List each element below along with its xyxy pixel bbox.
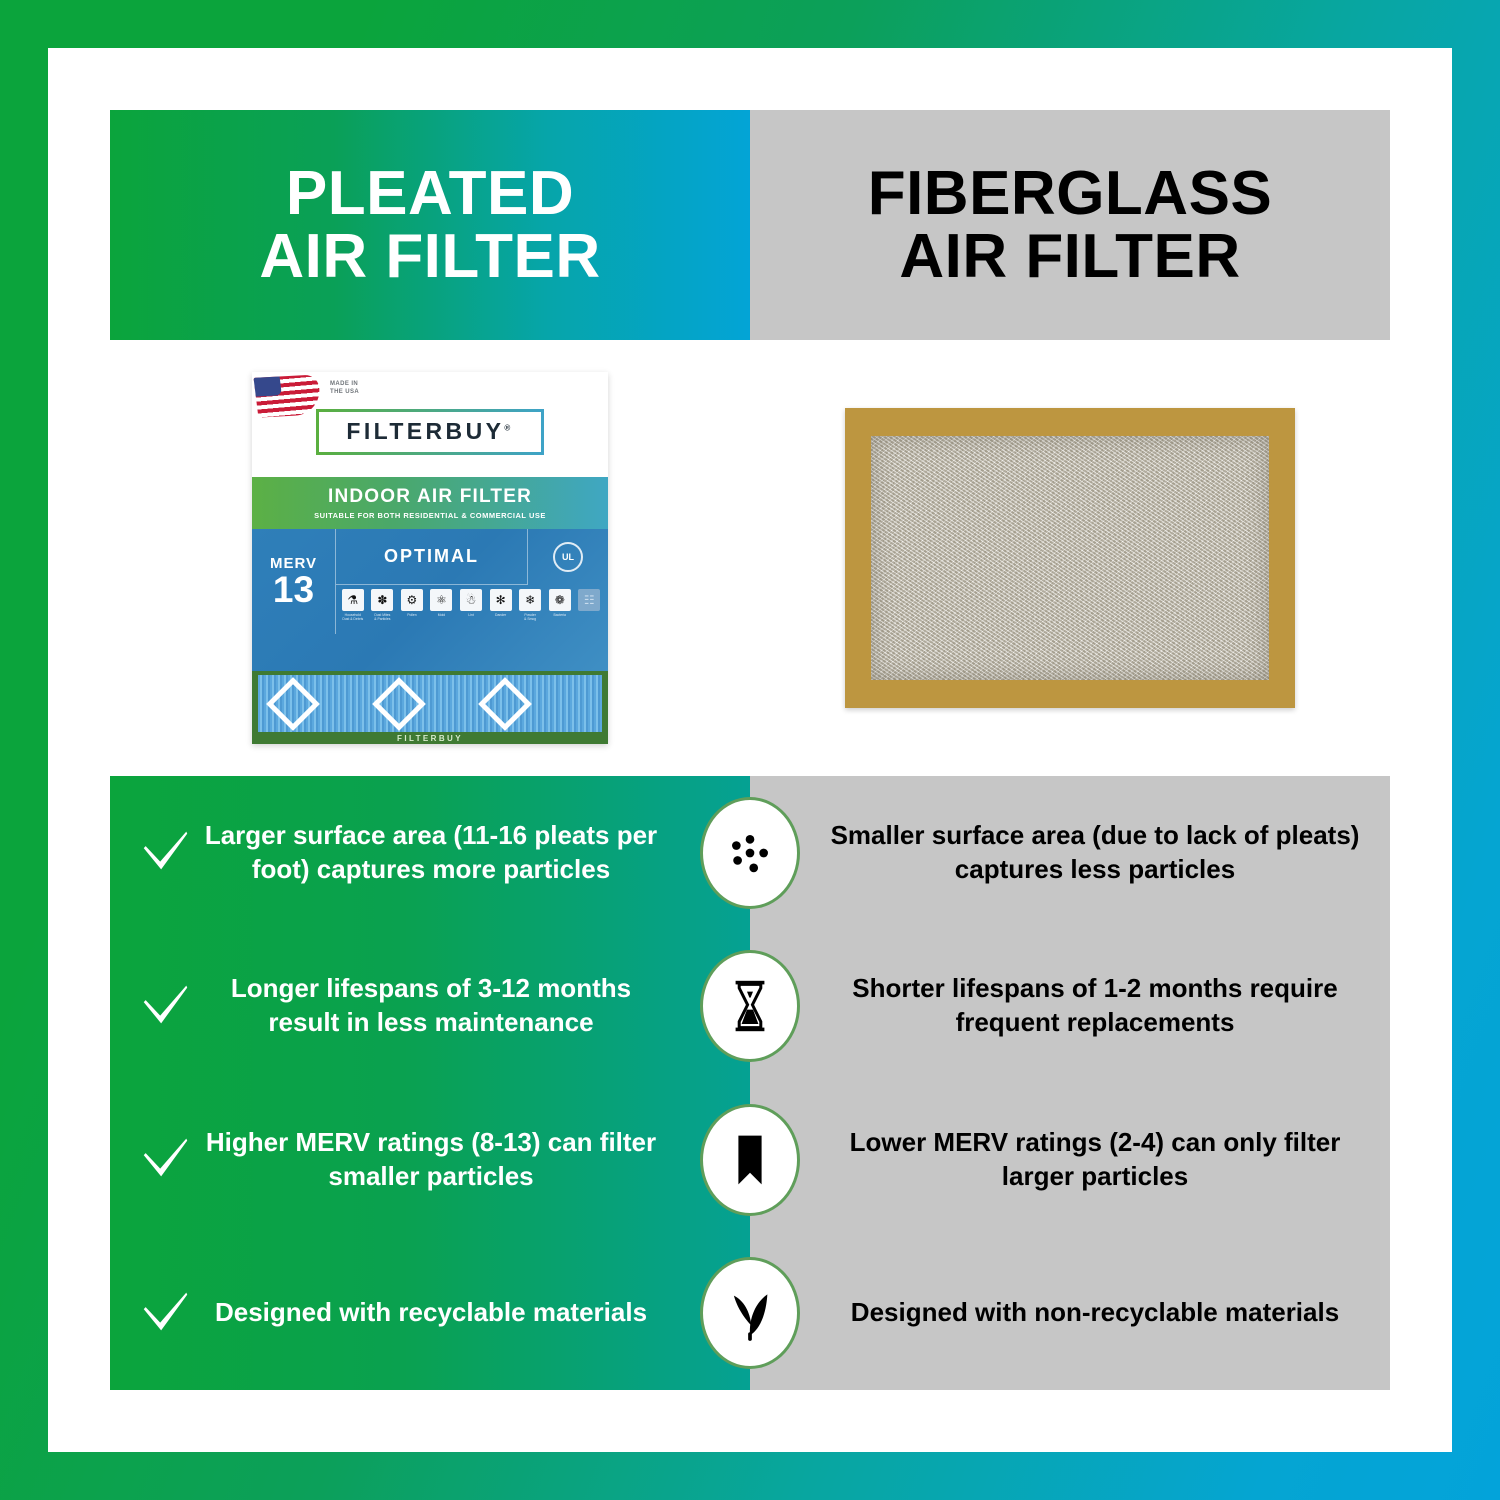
header-pleated: PLEATED AIR FILTER [110,110,750,340]
comparison-row: Larger surface area (11-16 pleats per fo… [110,776,1390,930]
usa-flag-icon [254,374,323,417]
filterbuy-frame-text: FILTERBUY [252,734,608,743]
capture-icon-bacteria: ❁ Bacteria [547,589,573,617]
pleated-benefit-cell: Higher MERV ratings (8-13) can filter sm… [110,1083,750,1237]
hourglass-icon [700,950,800,1062]
capture-icon-label: Mold [438,613,445,617]
wire-diamond [478,677,532,731]
particles-icon [700,797,800,909]
powder-smog-icon: ❄ [519,589,541,611]
fiberglass-filter-image [845,408,1295,708]
filterbuy-logo-text: FILTERBUY® [346,418,513,445]
check-icon [136,975,194,1038]
fiberglass-drawback-cell: Shorter lifespans of 1-2 months require … [750,930,1390,1084]
capture-icon-dander: ✻ Dander [488,589,514,617]
fiberglass-drawback-text: Designed with non-recyclable materials [851,1296,1339,1330]
capture-icon-lint: ☃ Lint [458,589,484,617]
fiberglass-drawback-text: Lower MERV ratings (2-4) can only filter… [830,1126,1360,1194]
fiberglass-drawback-cell: Smaller surface area (due to lack of ple… [750,776,1390,930]
pleated-benefit-text: Larger surface area (11-16 pleats per fo… [198,819,710,887]
ul-certification-icon: UL [553,542,583,572]
fiberglass-product-cell [750,340,1390,776]
capture-icon-dust: ⚗ Household Dust & Debris [340,589,366,622]
pleated-filter-box-image: MADE IN THE USA FILTERBUY® INDOOR AIR FI… [252,372,608,744]
dust-icon: ⚗ [342,589,364,611]
pleated-benefit-text: Designed with recyclable materials [198,1296,710,1330]
capture-icon-label: Household Dust & Debris [342,613,363,622]
pleated-media-preview: FILTERBUY [252,671,608,744]
capture-icon-label: Bacteria [553,613,565,617]
capture-icon-mold: ⚛ Mold [429,589,455,617]
bookmark-icon [700,1104,800,1216]
wire-diamond [266,677,320,731]
pleated-benefit-cell: Longer lifespans of 3-12 months result i… [110,930,750,1084]
capture-icons-strip: ⚗ Household Dust & Debris ✽ Dust Mites &… [340,589,602,637]
pleat-grid [258,675,602,732]
pleated-product-cell: MADE IN THE USA FILTERBUY® INDOOR AIR FI… [110,340,750,776]
capture-icon-disabled: ☷ [577,589,603,613]
capture-icon-label: Pollen [407,613,416,617]
fiberglass-drawback-cell: Lower MERV ratings (2-4) can only filter… [750,1083,1390,1237]
fiberglass-drawback-text: Shorter lifespans of 1-2 months require … [830,972,1360,1040]
capture-icon-dust-mites: ✽ Dust Mites & Particles [370,589,396,622]
comparison-row: Higher MERV ratings (8-13) can filter sm… [110,1083,1390,1237]
capture-icon-label: Powder & Smog [524,613,536,622]
header-fiberglass: FIBERGLASS AIR FILTER [750,110,1390,340]
bacteria-icon: ❁ [549,589,571,611]
box-band-title: INDOOR AIR FILTER [328,486,532,508]
box-top-section: MADE IN THE USA FILTERBUY® [252,372,608,477]
header-pleated-title: PLEATED AIR FILTER [259,162,600,288]
fiberglass-media [871,436,1269,680]
ul-cert-cell: UL [528,529,608,585]
box-blue-section: MERV 13 OPTIMAL UL ⚗ Household Dust & De… [252,529,608,671]
fiberglass-drawback-cell: Designed with non-recyclable materials [750,1237,1390,1391]
check-icon [136,821,194,884]
pleated-benefit-text: Longer lifespans of 3-12 months result i… [198,972,710,1040]
comparison-row: Designed with recyclable materials Desig… [110,1237,1390,1391]
box-band-subtitle: SUITABLE FOR BOTH RESIDENTIAL & COMMERCI… [314,511,546,520]
box-green-band: INDOOR AIR FILTER SUITABLE FOR BOTH RESI… [252,477,608,529]
product-image-row: MADE IN THE USA FILTERBUY® INDOOR AIR FI… [110,340,1390,776]
inactive-icon: ☷ [578,589,600,611]
comparison-row: Longer lifespans of 3-12 months result i… [110,930,1390,1084]
capture-icon-pollen: ⚙ Pollen [399,589,425,617]
pleated-benefit-text: Higher MERV ratings (8-13) can filter sm… [198,1126,710,1194]
made-in-usa-label: MADE IN THE USA [330,380,359,396]
capture-icon-label: Dander [495,613,506,617]
capture-icon-powder-smog: ❄ Powder & Smog [517,589,543,622]
check-icon [136,1128,194,1191]
dander-icon: ✻ [490,589,512,611]
capture-icon-label: Dust Mites & Particles [374,613,390,622]
merv-value: 13 [273,572,314,607]
mold-icon: ⚛ [430,589,452,611]
check-icon [136,1282,194,1345]
pleated-benefit-cell: Designed with recyclable materials [110,1237,750,1391]
merv-badge: MERV 13 [252,529,336,634]
header-band: PLEATED AIR FILTER FIBERGLASS AIR FILTER [110,110,1390,340]
wire-diamond [372,677,426,731]
comparison-table: Larger surface area (11-16 pleats per fo… [110,776,1390,1390]
capture-icon-label: Lint [468,613,473,617]
infographic-frame: PLEATED AIR FILTER FIBERGLASS AIR FILTER… [48,48,1452,1452]
filterbuy-logo: FILTERBUY® [316,409,544,455]
pleated-benefit-cell: Larger surface area (11-16 pleats per fo… [110,776,750,930]
filter-tier-label: OPTIMAL [336,529,528,585]
header-fiberglass-title: FIBERGLASS AIR FILTER [868,162,1273,288]
lint-icon: ☃ [460,589,482,611]
leaf-icon [700,1257,800,1369]
pollen-icon: ⚙ [401,589,423,611]
dust-mite-icon: ✽ [371,589,393,611]
fiberglass-drawback-text: Smaller surface area (due to lack of ple… [830,819,1360,887]
